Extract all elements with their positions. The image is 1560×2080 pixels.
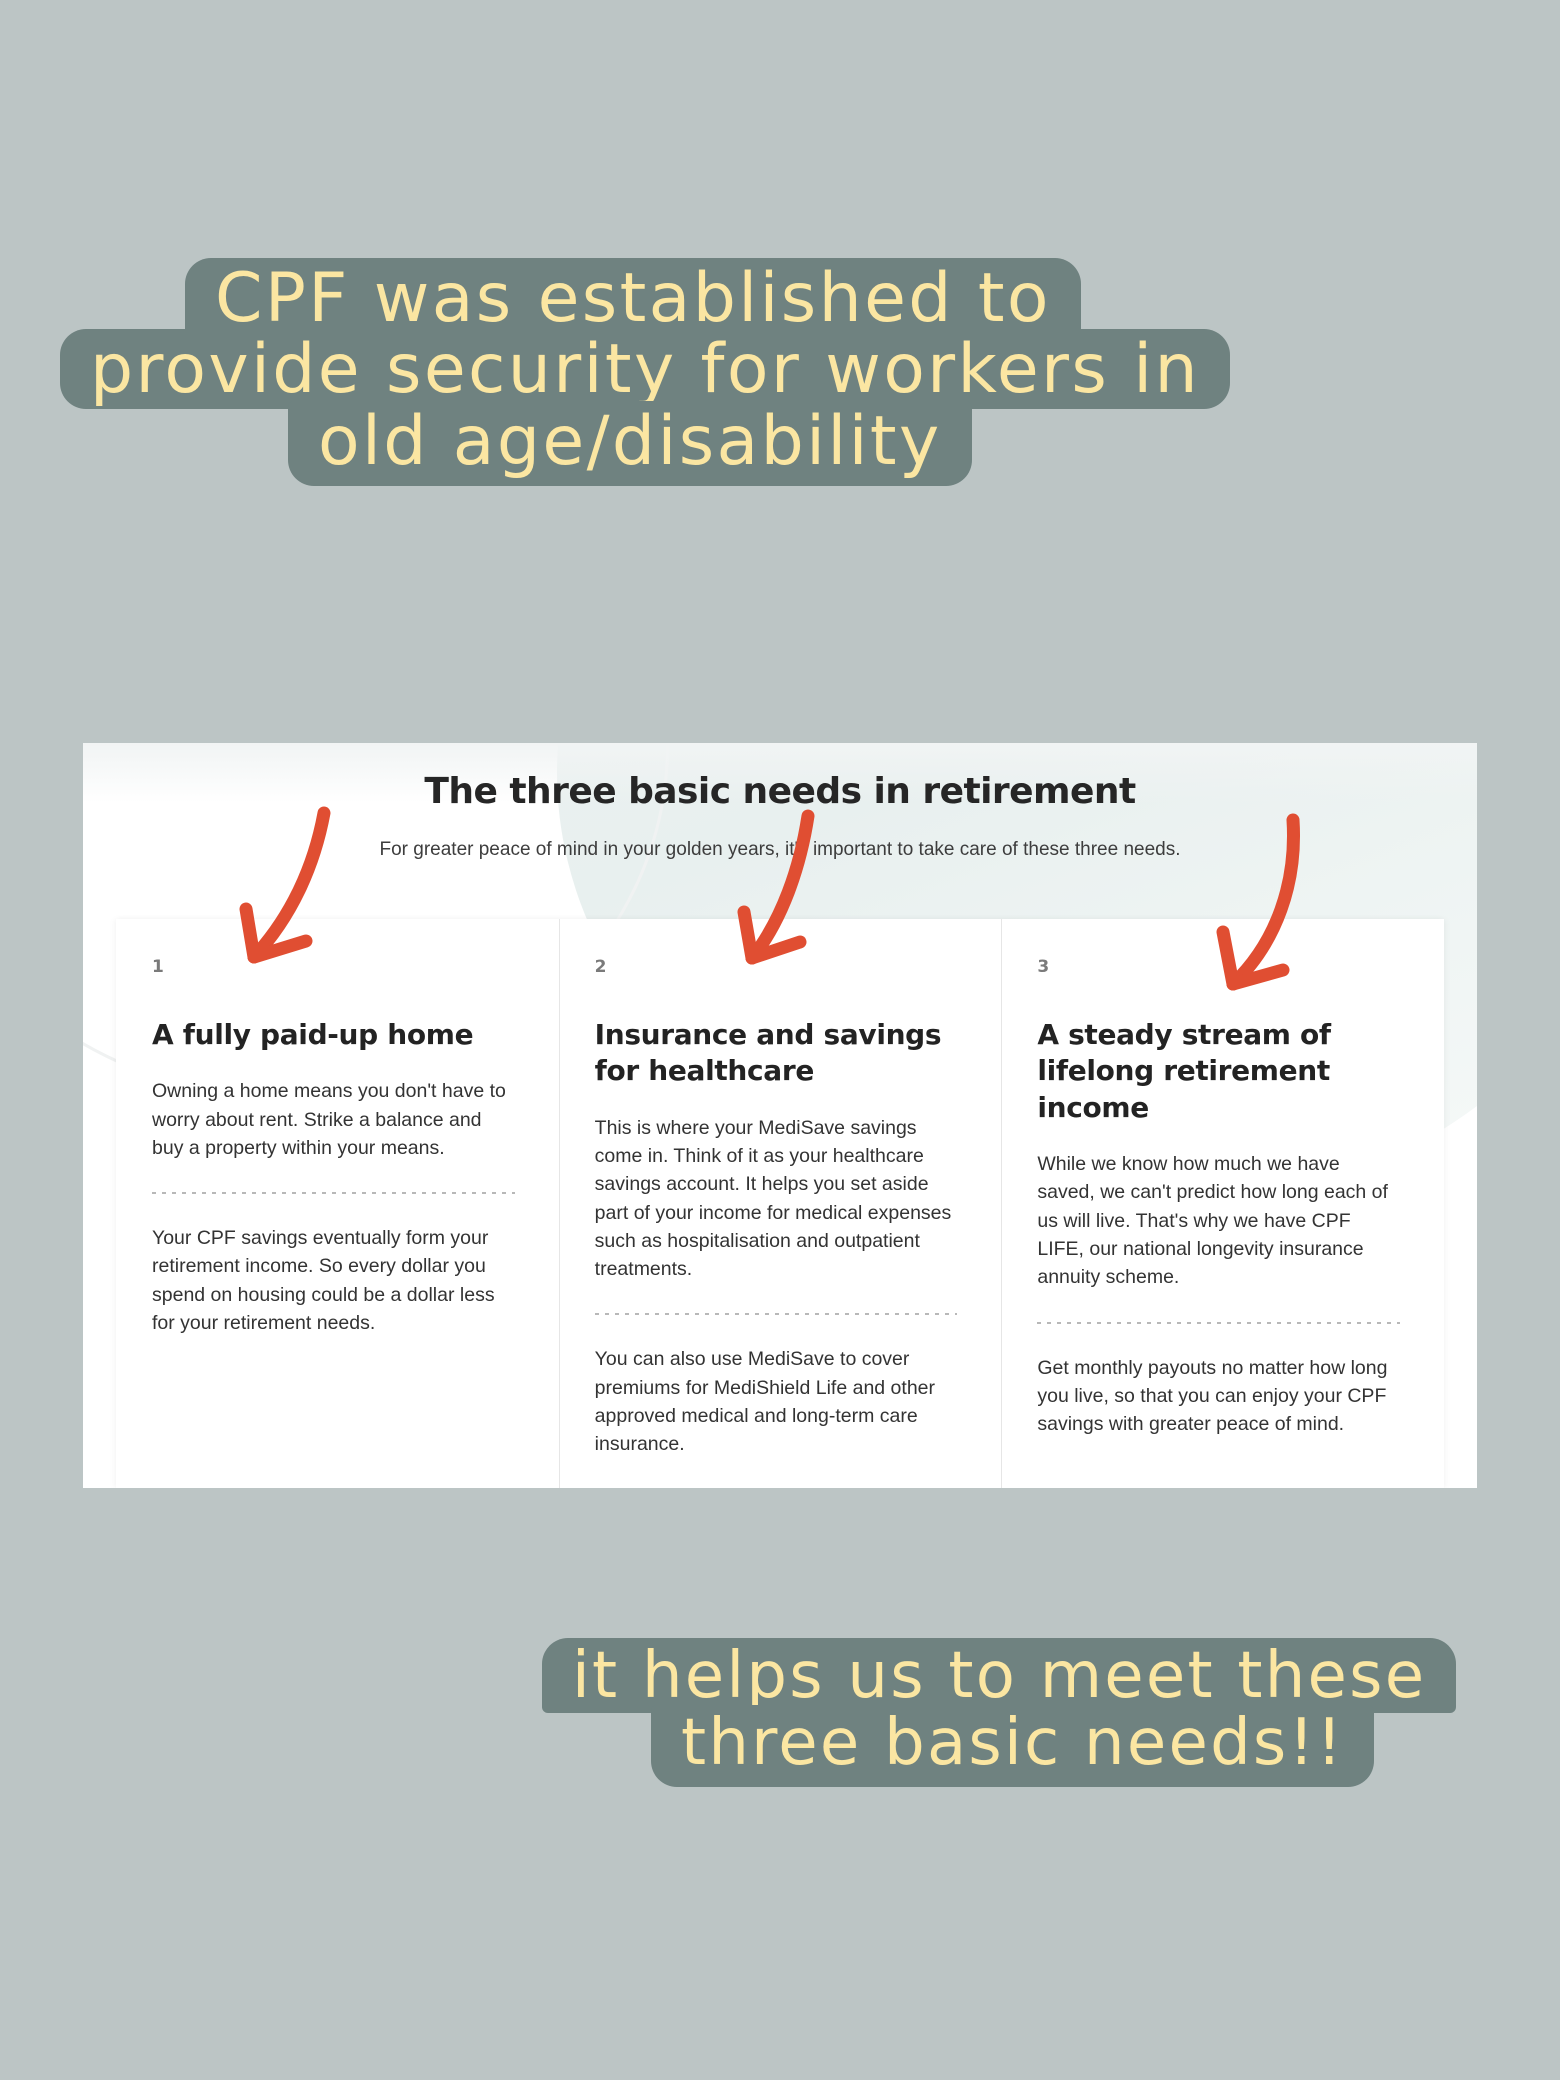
top-caption-line-1: CPF was established to [185,258,1081,337]
column-heading-1: A fully paid-up home [152,1017,515,1053]
card-header: The three basic needs in retirement For … [83,743,1477,861]
top-caption-line-2: provide security for workers in [60,329,1230,408]
column-divider-2 [595,1313,958,1315]
need-column-1: 1 A fully paid-up home Owning a home mea… [116,919,559,1488]
top-caption-banner: CPF was established to provide security … [60,258,1230,486]
column-paragraph-2b: You can also use MediSave to cover premi… [595,1345,958,1458]
three-needs-columns: 1 A fully paid-up home Owning a home mea… [116,919,1444,1488]
column-paragraph-2a: This is where your MediSave savings come… [595,1114,958,1284]
need-column-2: 2 Insurance and savings for healthcare T… [559,919,1002,1488]
bottom-caption-banner: it helps us to meet these three basic ne… [0,1638,1560,1787]
column-number-3: 3 [1037,957,1400,977]
column-paragraph-3b: Get monthly payouts no matter how long y… [1037,1354,1400,1439]
bottom-caption-line-1: it helps us to meet these [542,1638,1456,1713]
page-title: The three basic needs in retirement [83,771,1477,812]
top-caption-line-3: old age/disability [288,401,972,486]
column-number-2: 2 [595,957,958,977]
column-number-1: 1 [152,957,515,977]
page-subtitle: For greater peace of mind in your golden… [83,839,1477,861]
column-heading-2: Insurance and savings for healthcare [595,1017,958,1090]
column-paragraph-3a: While we know how much we have saved, we… [1037,1150,1400,1291]
column-paragraph-1a: Owning a home means you don't have to wo… [152,1077,515,1162]
column-divider-1 [152,1192,515,1194]
column-heading-3: A steady stream of lifelong retirement i… [1037,1017,1400,1126]
need-column-3: 3 A steady stream of lifelong retirement… [1001,919,1444,1488]
column-paragraph-1b: Your CPF savings eventually form your re… [152,1224,515,1337]
retirement-needs-card: The three basic needs in retirement For … [83,743,1477,1488]
bottom-caption-line-2: three basic needs!! [651,1705,1374,1786]
column-divider-3 [1037,1322,1400,1324]
